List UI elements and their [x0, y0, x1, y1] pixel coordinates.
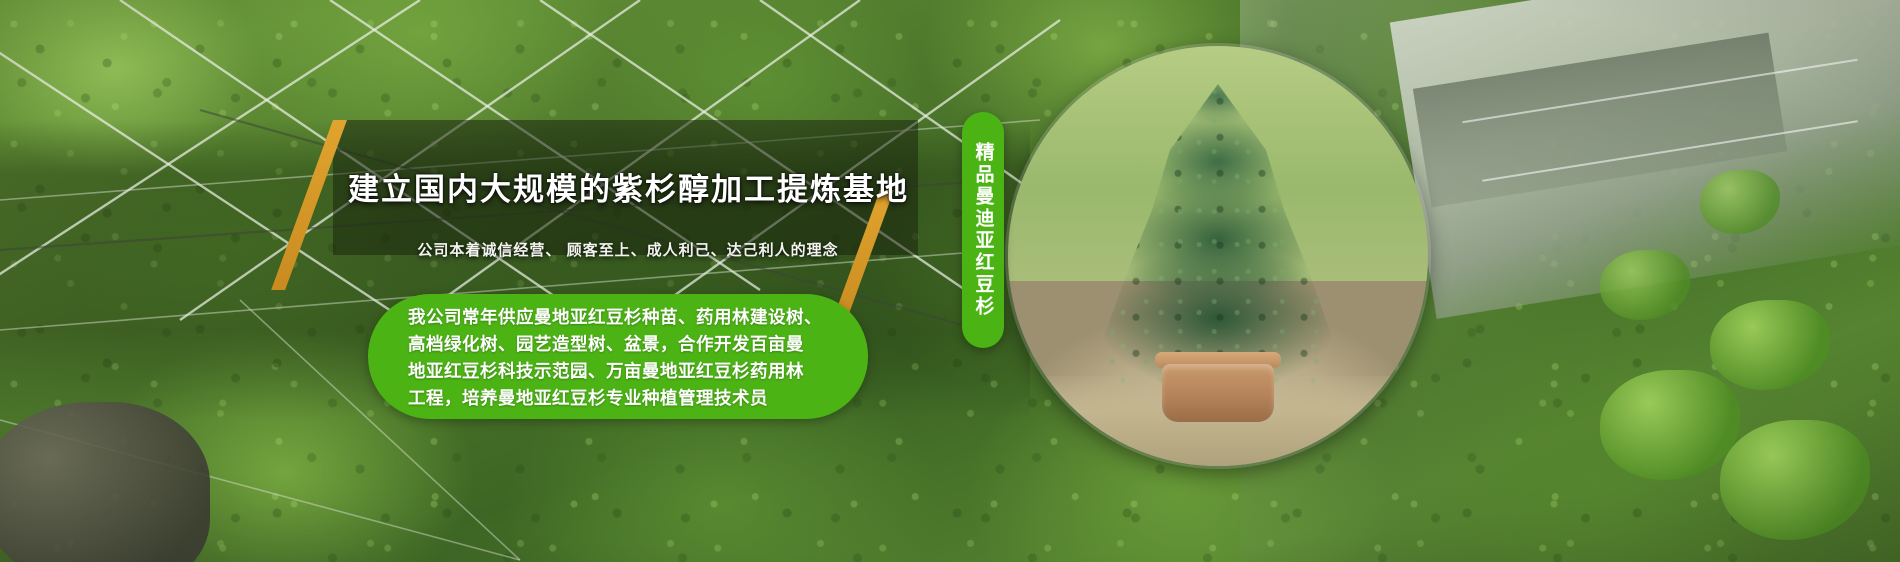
description-line-1: 我公司常年供应曼地亚红豆杉种苗、药用林建设树、 — [408, 304, 848, 331]
page-title: 建立国内大规模的紫杉醇加工提炼基地 — [348, 164, 908, 209]
flower-pot — [1162, 364, 1274, 422]
foreground-rock — [0, 402, 210, 562]
description-line-4: 工程，培养曼地亚红豆杉专业种植管理技术员 — [408, 385, 848, 412]
vertical-label-text: 精品曼迪亚红豆杉 — [962, 112, 1004, 348]
promotional-banner: 建立国内大规模的紫杉醇加工提炼基地 公司本着诚信经营、 顾客至上、成人利己、达己… — [0, 0, 1900, 562]
page-subtitle: 公司本着诚信经营、 顾客至上、成人利己、达己利人的理念 — [348, 239, 908, 260]
description-line-2: 高档绿化树、园艺造型树、盆景，合作开发百亩曼 — [408, 331, 848, 358]
product-photo-circle — [1008, 46, 1428, 466]
description-line-3: 地亚红豆杉科技示范园、万亩曼地亚红豆杉药用林 — [408, 358, 848, 385]
description-text: 我公司常年供应曼地亚红豆杉种苗、药用林建设树、 高档绿化树、园艺造型树、盆景，合… — [408, 304, 848, 412]
